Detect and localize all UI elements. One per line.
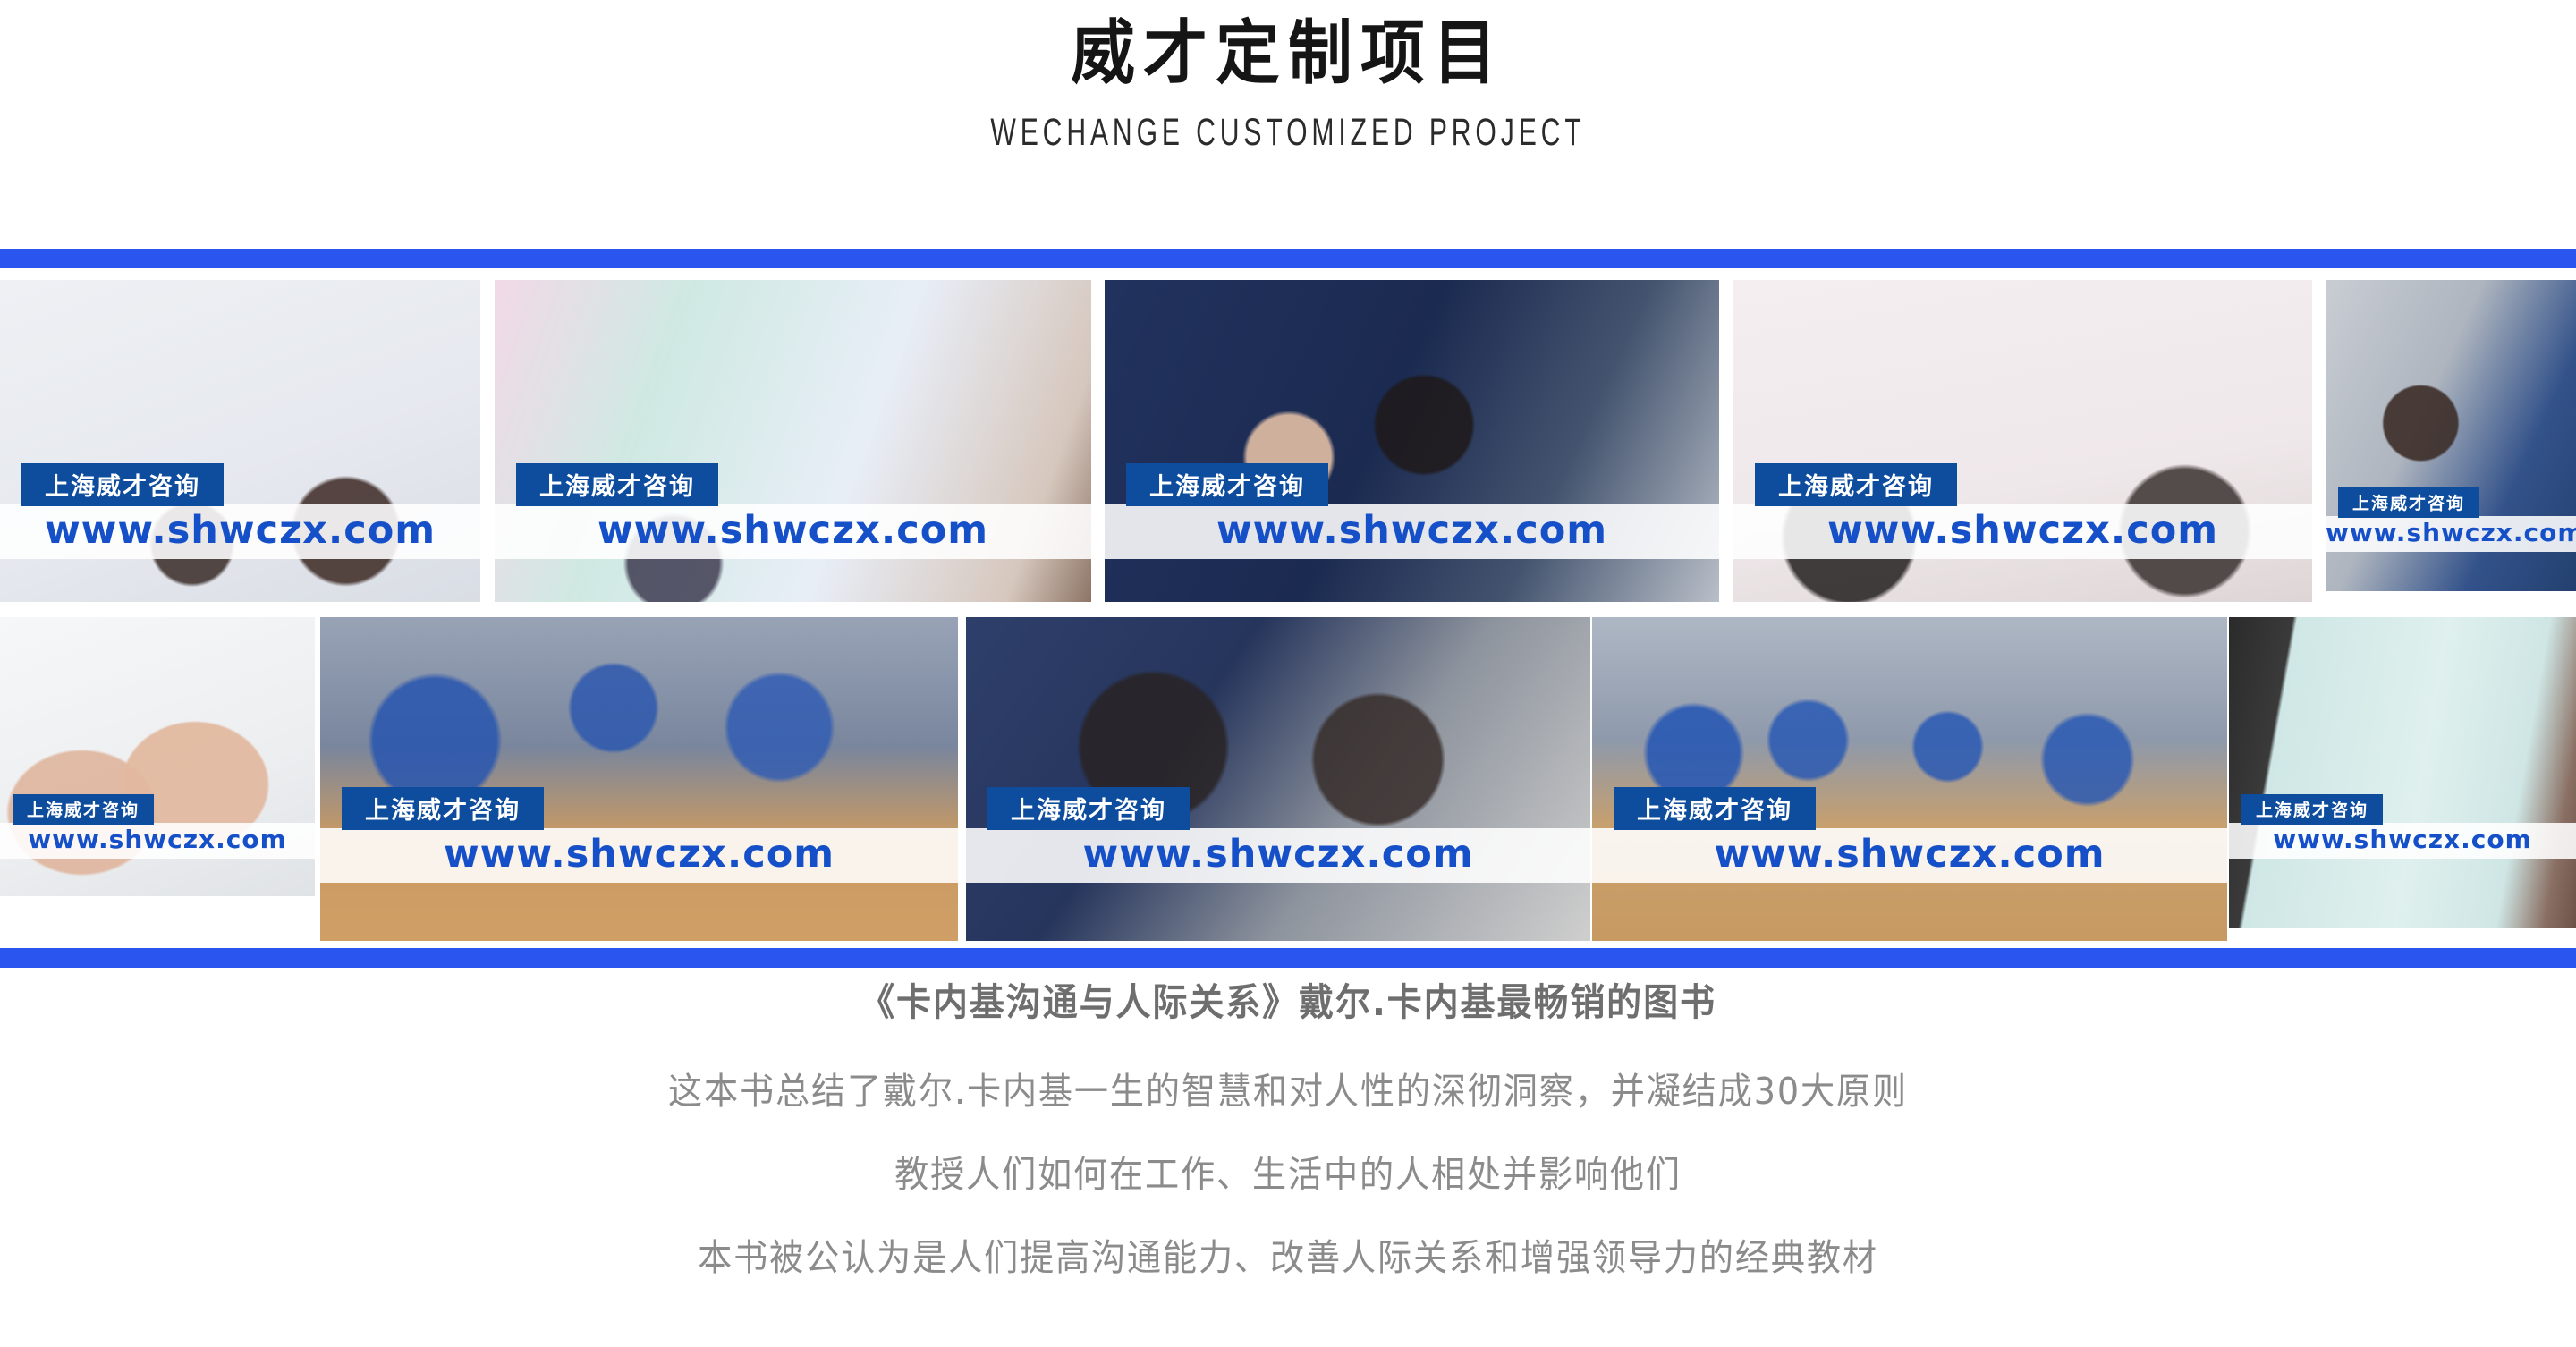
- watermark-url: www.shwczx.com: [2229, 823, 2576, 859]
- divider-bottom: [0, 948, 2576, 968]
- watermark-badge: 上海威才咨询: [1126, 463, 1328, 506]
- watermark-url: www.shwczx.com: [1105, 504, 1719, 559]
- watermark-url: www.shwczx.com: [320, 828, 958, 883]
- watermark: 上海威才咨询 www.shwczx.com: [0, 794, 315, 859]
- watermark: 上海威才咨询 www.shwczx.com: [2326, 487, 2576, 552]
- divider-top: [0, 249, 2576, 268]
- watermark-url: www.shwczx.com: [1733, 504, 2312, 559]
- slide-page: 威才定制项目 WECHANGE CUSTOMIZED PROJECT 上海威才咨…: [0, 0, 2576, 1347]
- photo-row-2: 上海威才咨询 www.shwczx.com 上海威才咨询 www.shwczx.…: [0, 617, 2576, 941]
- watermark-url: www.shwczx.com: [0, 823, 315, 859]
- footer-copy: 《卡内基沟通与人际关系》戴尔.卡内基最畅销的图书 这本书总结了戴尔.卡内基一生的…: [0, 984, 2576, 1323]
- photo-item[interactable]: 上海威才咨询 www.shwczx.com: [1733, 280, 2312, 602]
- footer-line: 本书被公认为是人们提高沟通能力、改善人际关系和增强领导力的经典教材: [90, 1240, 2486, 1276]
- photo-item[interactable]: 上海威才咨询 www.shwczx.com: [495, 280, 1091, 602]
- watermark-badge: 上海威才咨询: [21, 463, 224, 506]
- watermark: 上海威才咨询 www.shwczx.com: [1733, 463, 2312, 559]
- watermark-badge: 上海威才咨询: [342, 787, 544, 830]
- footer-line: 教授人们如何在工作、生活中的人相处并影响他们: [90, 1156, 2486, 1193]
- watermark-badge: 上海威才咨询: [516, 463, 718, 506]
- footer-line: 这本书总结了戴尔.卡内基一生的智慧和对人性的深彻洞察，并凝结成30大原则: [90, 1073, 2486, 1110]
- watermark-url: www.shwczx.com: [1592, 828, 2227, 883]
- photo-item[interactable]: 上海威才咨询 www.shwczx.com: [1592, 617, 2227, 941]
- watermark-url: www.shwczx.com: [495, 504, 1091, 559]
- watermark-badge: 上海威才咨询: [2338, 487, 2479, 518]
- page-subtitle: WECHANGE CUSTOMIZED PROJECT: [386, 111, 2190, 155]
- photo-item[interactable]: 上海威才咨询 www.shwczx.com: [966, 617, 1590, 941]
- watermark-badge: 上海威才咨询: [1755, 463, 1957, 506]
- watermark: 上海威才咨询 www.shwczx.com: [2229, 794, 2576, 859]
- watermark-url: www.shwczx.com: [966, 828, 1590, 883]
- photo-row-1: 上海威才咨询 www.shwczx.com 上海威才咨询 www.shwczx.…: [0, 280, 2576, 602]
- watermark: 上海威才咨询 www.shwczx.com: [966, 787, 1590, 883]
- photo-item[interactable]: 上海威才咨询 www.shwczx.com: [2326, 280, 2576, 591]
- watermark-url: www.shwczx.com: [2326, 516, 2576, 552]
- watermark: 上海威才咨询 www.shwczx.com: [1592, 787, 2227, 883]
- page-header: 威才定制项目 WECHANGE CUSTOMIZED PROJECT: [0, 0, 2576, 155]
- watermark: 上海威才咨询 www.shwczx.com: [320, 787, 958, 883]
- footer-line: 《卡内基沟通与人际关系》戴尔.卡内基最畅销的图书: [90, 984, 2486, 1021]
- watermark-url: www.shwczx.com: [0, 504, 480, 559]
- photo-item[interactable]: 上海威才咨询 www.shwczx.com: [1105, 280, 1719, 602]
- photo-item[interactable]: 上海威才咨询 www.shwczx.com: [0, 280, 480, 602]
- photo-item[interactable]: 上海威才咨询 www.shwczx.com: [320, 617, 958, 941]
- watermark-badge: 上海威才咨询: [2241, 794, 2383, 825]
- watermark-badge: 上海威才咨询: [13, 794, 154, 825]
- page-title: 威才定制项目: [103, 16, 2473, 91]
- photo-item[interactable]: 上海威才咨询 www.shwczx.com: [0, 617, 315, 896]
- watermark-badge: 上海威才咨询: [987, 787, 1190, 830]
- photo-item[interactable]: 上海威才咨询 www.shwczx.com: [2229, 617, 2576, 928]
- watermark-badge: 上海威才咨询: [1614, 787, 1816, 830]
- watermark: 上海威才咨询 www.shwczx.com: [0, 463, 480, 559]
- watermark: 上海威才咨询 www.shwczx.com: [1105, 463, 1719, 559]
- watermark: 上海威才咨询 www.shwczx.com: [495, 463, 1091, 559]
